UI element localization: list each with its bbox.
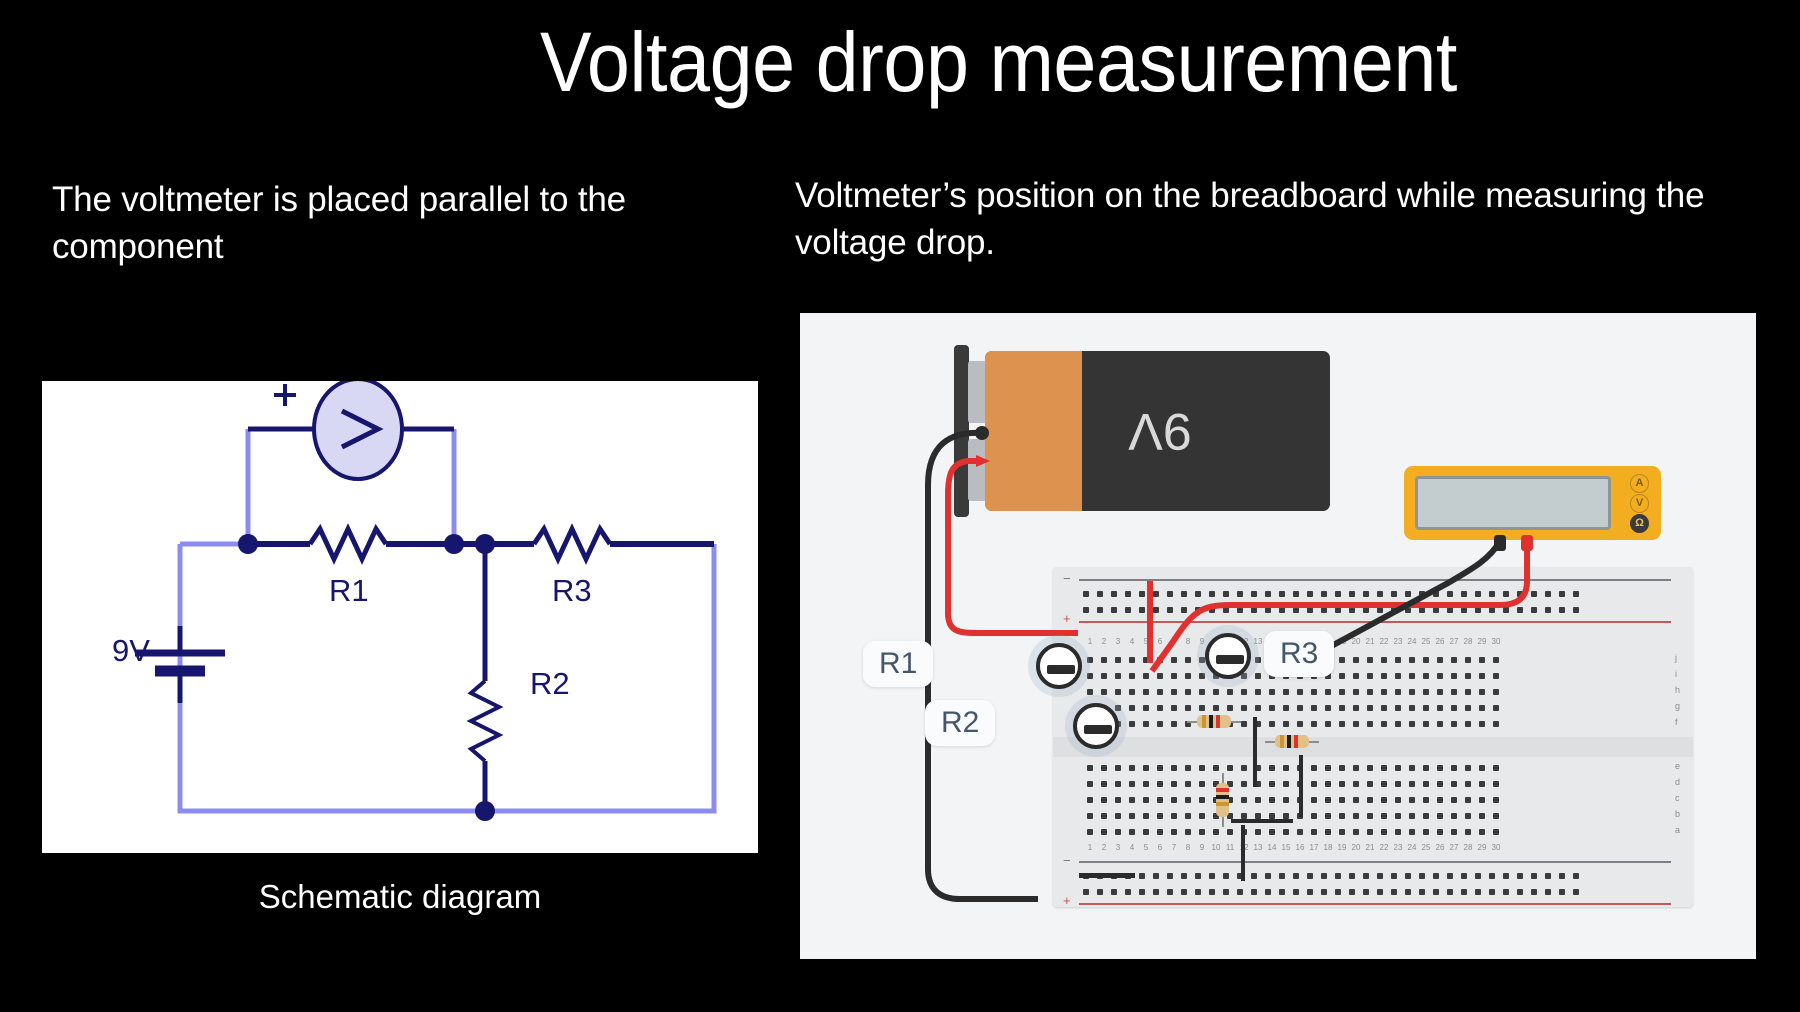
breadboard-hole[interactable]: [1167, 653, 1181, 667]
breadboard[interactable]: − + 123456789101112131415161718192021222…: [1053, 567, 1693, 907]
breadboard-hole[interactable]: [1433, 793, 1447, 807]
breadboard-hole[interactable]: [1107, 587, 1121, 601]
breadboard-hole[interactable]: [1111, 777, 1125, 791]
breadboard-hole[interactable]: [1429, 869, 1443, 883]
breadboard-hole[interactable]: [1349, 701, 1363, 715]
breadboard-hole[interactable]: [1527, 869, 1541, 883]
breadboard-hole[interactable]: [1419, 825, 1433, 839]
breadboard-hole[interactable]: [1405, 701, 1419, 715]
rail-holes-bottom-row2[interactable]: [1079, 885, 1583, 899]
breadboard-hole[interactable]: [1475, 717, 1489, 731]
breadboard-hole[interactable]: [1195, 761, 1209, 775]
breadboard-hole[interactable]: [1083, 777, 1097, 791]
breadboard-hole[interactable]: [1265, 825, 1279, 839]
breadboard-hole[interactable]: [1363, 761, 1377, 775]
breadboard-hole[interactable]: [1335, 777, 1349, 791]
breadboard-hole[interactable]: [1139, 685, 1153, 699]
breadboard-hole[interactable]: [1349, 653, 1363, 667]
breadboard-hole[interactable]: [1321, 761, 1335, 775]
breadboard-hole[interactable]: [1317, 885, 1331, 899]
breadboard-hole[interactable]: [1363, 793, 1377, 807]
breadboard-hole[interactable]: [1475, 793, 1489, 807]
breadboard-hole[interactable]: [1223, 685, 1237, 699]
breadboard-hole[interactable]: [1391, 825, 1405, 839]
breadboard-hole[interactable]: [1247, 603, 1261, 617]
breadboard-hole[interactable]: [1237, 761, 1251, 775]
breadboard-hole[interactable]: [1391, 669, 1405, 683]
breadboard-hole[interactable]: [1513, 885, 1527, 899]
breadboard-hole[interactable]: [1139, 793, 1153, 807]
jumper-wire-vertical-3[interactable]: [1241, 825, 1245, 881]
breadboard-hole[interactable]: [1219, 587, 1233, 601]
breadboard-hole[interactable]: [1303, 869, 1317, 883]
breadboard-hole[interactable]: [1527, 587, 1541, 601]
breadboard-hole[interactable]: [1093, 587, 1107, 601]
breadboard-hole[interactable]: [1405, 653, 1419, 667]
breadboard-hole[interactable]: [1377, 701, 1391, 715]
breadboard-hole[interactable]: [1401, 869, 1415, 883]
breadboard-hole[interactable]: [1251, 825, 1265, 839]
breadboard-hole[interactable]: [1097, 777, 1111, 791]
breadboard-hole[interactable]: [1447, 793, 1461, 807]
breadboard-hole[interactable]: [1275, 603, 1289, 617]
breadboard-hole[interactable]: [1233, 885, 1247, 899]
breadboard-hole[interactable]: [1335, 793, 1349, 807]
breadboard-hole[interactable]: [1209, 685, 1223, 699]
breadboard-hole[interactable]: [1083, 793, 1097, 807]
breadboard-hole[interactable]: [1139, 777, 1153, 791]
breadboard-hole[interactable]: [1359, 869, 1373, 883]
breadboard-hole[interactable]: [1447, 761, 1461, 775]
breadboard-hole[interactable]: [1555, 869, 1569, 883]
breadboard-hole[interactable]: [1097, 669, 1111, 683]
breadboard-hole[interactable]: [1233, 587, 1247, 601]
breadboard-hole[interactable]: [1153, 809, 1167, 823]
breadboard-hole[interactable]: [1419, 809, 1433, 823]
breadboard-hole[interactable]: [1167, 685, 1181, 699]
breadboard-hole[interactable]: [1097, 825, 1111, 839]
breadboard-hole[interactable]: [1475, 669, 1489, 683]
breadboard-hole[interactable]: [1401, 587, 1415, 601]
breadboard-hole[interactable]: [1219, 603, 1233, 617]
breadboard-hole[interactable]: [1377, 809, 1391, 823]
breadboard-hole[interactable]: [1475, 653, 1489, 667]
breadboard-hole[interactable]: [1321, 793, 1335, 807]
breadboard-hole[interactable]: [1307, 761, 1321, 775]
breadboard-hole[interactable]: [1485, 603, 1499, 617]
breadboard-hole[interactable]: [1163, 869, 1177, 883]
breadboard-hole[interactable]: [1377, 669, 1391, 683]
breadboard-hole[interactable]: [1377, 825, 1391, 839]
breadboard-hole[interactable]: [1419, 717, 1433, 731]
breadboard-hole[interactable]: [1125, 669, 1139, 683]
breadboard-hole[interactable]: [1391, 717, 1405, 731]
breadboard-hole[interactable]: [1419, 685, 1433, 699]
breadboard-hole[interactable]: [1205, 603, 1219, 617]
breadboard-hole[interactable]: [1097, 653, 1111, 667]
breadboard-hole[interactable]: [1279, 761, 1293, 775]
breadboard-hole[interactable]: [1489, 777, 1503, 791]
breadboard-hole[interactable]: [1135, 885, 1149, 899]
breadboard-hole[interactable]: [1415, 885, 1429, 899]
probe-point-r1[interactable]: [1036, 643, 1082, 689]
breadboard-hole[interactable]: [1083, 825, 1097, 839]
breadboard-hole[interactable]: [1377, 793, 1391, 807]
breadboard-hole[interactable]: [1321, 777, 1335, 791]
breadboard-hole[interactable]: [1317, 587, 1331, 601]
breadboard-hole[interactable]: [1447, 701, 1461, 715]
breadboard-hole[interactable]: [1167, 669, 1181, 683]
probe-point-r3[interactable]: [1205, 633, 1251, 679]
breadboard-hole[interactable]: [1447, 777, 1461, 791]
breadboard-hole[interactable]: [1139, 761, 1153, 775]
breadboard-hole[interactable]: [1377, 653, 1391, 667]
matrix-row-e[interactable]: [1083, 761, 1503, 775]
breadboard-hole[interactable]: [1265, 761, 1279, 775]
breadboard-hole[interactable]: [1153, 793, 1167, 807]
matrix-row-a[interactable]: [1083, 825, 1503, 839]
breadboard-hole[interactable]: [1139, 653, 1153, 667]
breadboard-hole[interactable]: [1443, 587, 1457, 601]
breadboard-hole[interactable]: [1335, 809, 1349, 823]
breadboard-hole[interactable]: [1121, 603, 1135, 617]
breadboard-hole[interactable]: [1149, 603, 1163, 617]
breadboard-hole[interactable]: [1359, 885, 1373, 899]
jumper-wire-ground-lead[interactable]: [1079, 873, 1135, 878]
multimeter-button-volts[interactable]: V: [1630, 494, 1649, 513]
breadboard-hole[interactable]: [1461, 717, 1475, 731]
breadboard-hole[interactable]: [1083, 809, 1097, 823]
matrix-row-b[interactable]: [1083, 809, 1503, 823]
breadboard-hole[interactable]: [1275, 869, 1289, 883]
breadboard-hole[interactable]: [1555, 603, 1569, 617]
breadboard-hole[interactable]: [1307, 777, 1321, 791]
resistor-r3[interactable]: [1265, 735, 1319, 748]
breadboard-hole[interactable]: [1163, 587, 1177, 601]
breadboard-hole[interactable]: [1513, 603, 1527, 617]
breadboard-hole[interactable]: [1489, 669, 1503, 683]
breadboard-hole[interactable]: [1391, 653, 1405, 667]
breadboard-hole[interactable]: [1191, 603, 1205, 617]
breadboard-hole[interactable]: [1461, 669, 1475, 683]
matrix-row-d[interactable]: [1083, 777, 1503, 791]
breadboard-hole[interactable]: [1107, 885, 1121, 899]
breadboard-hole[interactable]: [1153, 717, 1167, 731]
breadboard-hole[interactable]: [1373, 603, 1387, 617]
breadboard-hole[interactable]: [1317, 869, 1331, 883]
breadboard-hole[interactable]: [1149, 885, 1163, 899]
breadboard-hole[interactable]: [1121, 587, 1135, 601]
breadboard-hole[interactable]: [1569, 885, 1583, 899]
breadboard-hole[interactable]: [1461, 653, 1475, 667]
breadboard-hole[interactable]: [1363, 685, 1377, 699]
breadboard-hole[interactable]: [1363, 653, 1377, 667]
breadboard-hole[interactable]: [1181, 793, 1195, 807]
breadboard-hole[interactable]: [1331, 587, 1345, 601]
breadboard-hole[interactable]: [1499, 603, 1513, 617]
breadboard-hole[interactable]: [1391, 809, 1405, 823]
breadboard-hole[interactable]: [1293, 701, 1307, 715]
breadboard-hole[interactable]: [1149, 587, 1163, 601]
breadboard-hole[interactable]: [1163, 603, 1177, 617]
breadboard-hole[interactable]: [1527, 603, 1541, 617]
breadboard-hole[interactable]: [1335, 685, 1349, 699]
breadboard-hole[interactable]: [1307, 701, 1321, 715]
breadboard-hole[interactable]: [1181, 825, 1195, 839]
breadboard-hole[interactable]: [1167, 793, 1181, 807]
breadboard-hole[interactable]: [1461, 809, 1475, 823]
breadboard-hole[interactable]: [1433, 761, 1447, 775]
breadboard-hole[interactable]: [1331, 869, 1345, 883]
breadboard-hole[interactable]: [1177, 587, 1191, 601]
matrix-row-c[interactable]: [1083, 793, 1503, 807]
breadboard-hole[interactable]: [1335, 717, 1349, 731]
breadboard-hole[interactable]: [1265, 777, 1279, 791]
breadboard-hole[interactable]: [1135, 603, 1149, 617]
breadboard-hole[interactable]: [1293, 825, 1307, 839]
breadboard-hole[interactable]: [1555, 885, 1569, 899]
breadboard-hole[interactable]: [1237, 701, 1251, 715]
breadboard-hole[interactable]: [1097, 793, 1111, 807]
breadboard-hole[interactable]: [1377, 717, 1391, 731]
breadboard-hole[interactable]: [1139, 717, 1153, 731]
breadboard-hole[interactable]: [1349, 761, 1363, 775]
breadboard-hole[interactable]: [1181, 761, 1195, 775]
breadboard-hole[interactable]: [1321, 825, 1335, 839]
breadboard-hole[interactable]: [1125, 777, 1139, 791]
breadboard-hole[interactable]: [1153, 669, 1167, 683]
breadboard-hole[interactable]: [1471, 885, 1485, 899]
breadboard-hole[interactable]: [1377, 761, 1391, 775]
breadboard-hole[interactable]: [1349, 777, 1363, 791]
breadboard-hole[interactable]: [1405, 825, 1419, 839]
breadboard-hole[interactable]: [1359, 587, 1373, 601]
breadboard-hole[interactable]: [1153, 761, 1167, 775]
breadboard-hole[interactable]: [1489, 653, 1503, 667]
breadboard-hole[interactable]: [1205, 869, 1219, 883]
breadboard-hole[interactable]: [1279, 793, 1293, 807]
breadboard-hole[interactable]: [1139, 809, 1153, 823]
breadboard-hole[interactable]: [1541, 885, 1555, 899]
breadboard-hole[interactable]: [1247, 587, 1261, 601]
matrix-row-h[interactable]: [1083, 685, 1503, 699]
breadboard-hole[interactable]: [1167, 809, 1181, 823]
breadboard-hole[interactable]: [1447, 825, 1461, 839]
breadboard-hole[interactable]: [1279, 717, 1293, 731]
breadboard-hole[interactable]: [1461, 701, 1475, 715]
breadboard-hole[interactable]: [1349, 825, 1363, 839]
breadboard-hole[interactable]: [1153, 701, 1167, 715]
breadboard-hole[interactable]: [1321, 809, 1335, 823]
breadboard-hole[interactable]: [1163, 885, 1177, 899]
breadboard-hole[interactable]: [1489, 793, 1503, 807]
breadboard-hole[interactable]: [1321, 717, 1335, 731]
breadboard-hole[interactable]: [1167, 825, 1181, 839]
breadboard-hole[interactable]: [1391, 793, 1405, 807]
breadboard-hole[interactable]: [1261, 869, 1275, 883]
breadboard-hole[interactable]: [1125, 701, 1139, 715]
breadboard-hole[interactable]: [1443, 603, 1457, 617]
breadboard-hole[interactable]: [1265, 685, 1279, 699]
breadboard-hole[interactable]: [1195, 793, 1209, 807]
matrix-row-f[interactable]: [1083, 717, 1503, 731]
breadboard-hole[interactable]: [1485, 885, 1499, 899]
multimeter-button-amps[interactable]: A: [1630, 474, 1649, 493]
breadboard-hole[interactable]: [1261, 587, 1275, 601]
breadboard-hole[interactable]: [1345, 869, 1359, 883]
breadboard-hole[interactable]: [1079, 603, 1093, 617]
breadboard-hole[interactable]: [1139, 701, 1153, 715]
breadboard-hole[interactable]: [1363, 717, 1377, 731]
breadboard-hole[interactable]: [1261, 603, 1275, 617]
breadboard-hole[interactable]: [1485, 587, 1499, 601]
breadboard-hole[interactable]: [1335, 761, 1349, 775]
breadboard-hole[interactable]: [1251, 685, 1265, 699]
breadboard-hole[interactable]: [1135, 869, 1149, 883]
breadboard-hole[interactable]: [1377, 777, 1391, 791]
breadboard-hole[interactable]: [1153, 825, 1167, 839]
breadboard-hole[interactable]: [1093, 885, 1107, 899]
breadboard-hole[interactable]: [1475, 701, 1489, 715]
breadboard-hole[interactable]: [1265, 701, 1279, 715]
breadboard-hole[interactable]: [1275, 885, 1289, 899]
breadboard-hole[interactable]: [1181, 685, 1195, 699]
breadboard-hole[interactable]: [1419, 777, 1433, 791]
breadboard-hole[interactable]: [1513, 587, 1527, 601]
breadboard-hole[interactable]: [1475, 761, 1489, 775]
breadboard-hole[interactable]: [1499, 587, 1513, 601]
breadboard-hole[interactable]: [1471, 603, 1485, 617]
breadboard-hole[interactable]: [1499, 885, 1513, 899]
breadboard-hole[interactable]: [1387, 603, 1401, 617]
breadboard-hole[interactable]: [1093, 603, 1107, 617]
breadboard-hole[interactable]: [1349, 669, 1363, 683]
breadboard-hole[interactable]: [1415, 603, 1429, 617]
breadboard-hole[interactable]: [1279, 701, 1293, 715]
breadboard-hole[interactable]: [1307, 793, 1321, 807]
breadboard-hole[interactable]: [1195, 825, 1209, 839]
breadboard-hole[interactable]: [1233, 603, 1247, 617]
breadboard-hole[interactable]: [1419, 653, 1433, 667]
breadboard-hole[interactable]: [1111, 653, 1125, 667]
breadboard-hole[interactable]: [1475, 809, 1489, 823]
breadboard-hole[interactable]: [1405, 777, 1419, 791]
breadboard-hole[interactable]: [1111, 809, 1125, 823]
breadboard-hole[interactable]: [1307, 717, 1321, 731]
breadboard-hole[interactable]: [1125, 717, 1139, 731]
breadboard-hole[interactable]: [1191, 587, 1205, 601]
breadboard-hole[interactable]: [1293, 717, 1307, 731]
breadboard-hole[interactable]: [1405, 717, 1419, 731]
breadboard-hole[interactable]: [1307, 809, 1321, 823]
breadboard-hole[interactable]: [1247, 869, 1261, 883]
breadboard-hole[interactable]: [1461, 777, 1475, 791]
breadboard-hole[interactable]: [1237, 685, 1251, 699]
breadboard-hole[interactable]: [1219, 869, 1233, 883]
breadboard-hole[interactable]: [1289, 587, 1303, 601]
breadboard-hole[interactable]: [1121, 885, 1135, 899]
breadboard-hole[interactable]: [1345, 587, 1359, 601]
breadboard-hole[interactable]: [1363, 809, 1377, 823]
breadboard-hole[interactable]: [1499, 869, 1513, 883]
breadboard-hole[interactable]: [1433, 669, 1447, 683]
breadboard-hole[interactable]: [1363, 825, 1377, 839]
breadboard-hole[interactable]: [1489, 685, 1503, 699]
breadboard-hole[interactable]: [1335, 701, 1349, 715]
breadboard-hole[interactable]: [1237, 777, 1251, 791]
breadboard-hole[interactable]: [1195, 809, 1209, 823]
matrix-row-g[interactable]: [1083, 701, 1503, 715]
breadboard-hole[interactable]: [1461, 761, 1475, 775]
breadboard-hole[interactable]: [1321, 685, 1335, 699]
breadboard-hole[interactable]: [1391, 777, 1405, 791]
breadboard-hole[interactable]: [1349, 809, 1363, 823]
breadboard-hole[interactable]: [1475, 685, 1489, 699]
breadboard-hole[interactable]: [1489, 717, 1503, 731]
breadboard-hole[interactable]: [1279, 825, 1293, 839]
breadboard-hole[interactable]: [1461, 685, 1475, 699]
breadboard-hole[interactable]: [1205, 587, 1219, 601]
breadboard-hole[interactable]: [1097, 809, 1111, 823]
breadboard-hole[interactable]: [1111, 825, 1125, 839]
breadboard-hole[interactable]: [1279, 777, 1293, 791]
breadboard-hole[interactable]: [1303, 603, 1317, 617]
breadboard-hole[interactable]: [1541, 869, 1555, 883]
breadboard-hole[interactable]: [1167, 777, 1181, 791]
breadboard-hole[interactable]: [1461, 793, 1475, 807]
breadboard-hole[interactable]: [1289, 869, 1303, 883]
breadboard-hole[interactable]: [1377, 685, 1391, 699]
breadboard-hole[interactable]: [1475, 777, 1489, 791]
breadboard-hole[interactable]: [1097, 761, 1111, 775]
breadboard-hole[interactable]: [1461, 825, 1475, 839]
breadboard-hole[interactable]: [1447, 717, 1461, 731]
breadboard-hole[interactable]: [1167, 717, 1181, 731]
breadboard-hole[interactable]: [1349, 717, 1363, 731]
breadboard-hole[interactable]: [1317, 603, 1331, 617]
breadboard-hole[interactable]: [1419, 701, 1433, 715]
breadboard-hole[interactable]: [1429, 587, 1443, 601]
breadboard-hole[interactable]: [1321, 701, 1335, 715]
breadboard-hole[interactable]: [1181, 701, 1195, 715]
breadboard-hole[interactable]: [1335, 825, 1349, 839]
breadboard-hole[interactable]: [1125, 653, 1139, 667]
rail-holes-top-row1[interactable]: [1079, 587, 1583, 601]
breadboard-hole[interactable]: [1401, 885, 1415, 899]
breadboard-hole[interactable]: [1303, 587, 1317, 601]
breadboard-hole[interactable]: [1471, 869, 1485, 883]
breadboard-hole[interactable]: [1433, 685, 1447, 699]
breadboard-hole[interactable]: [1177, 603, 1191, 617]
breadboard-hole[interactable]: [1111, 793, 1125, 807]
breadboard-hole[interactable]: [1433, 825, 1447, 839]
breadboard-hole[interactable]: [1387, 587, 1401, 601]
breadboard-hole[interactable]: [1373, 885, 1387, 899]
breadboard-hole[interactable]: [1433, 653, 1447, 667]
breadboard-hole[interactable]: [1419, 761, 1433, 775]
breadboard-hole[interactable]: [1107, 603, 1121, 617]
breadboard-hole[interactable]: [1443, 885, 1457, 899]
breadboard-hole[interactable]: [1219, 885, 1233, 899]
breadboard-hole[interactable]: [1079, 885, 1093, 899]
breadboard-hole[interactable]: [1457, 603, 1471, 617]
breadboard-hole[interactable]: [1289, 885, 1303, 899]
breadboard-hole[interactable]: [1457, 587, 1471, 601]
breadboard-hole[interactable]: [1429, 603, 1443, 617]
breadboard-hole[interactable]: [1345, 603, 1359, 617]
breadboard-hole[interactable]: [1419, 793, 1433, 807]
breadboard-hole[interactable]: [1415, 869, 1429, 883]
